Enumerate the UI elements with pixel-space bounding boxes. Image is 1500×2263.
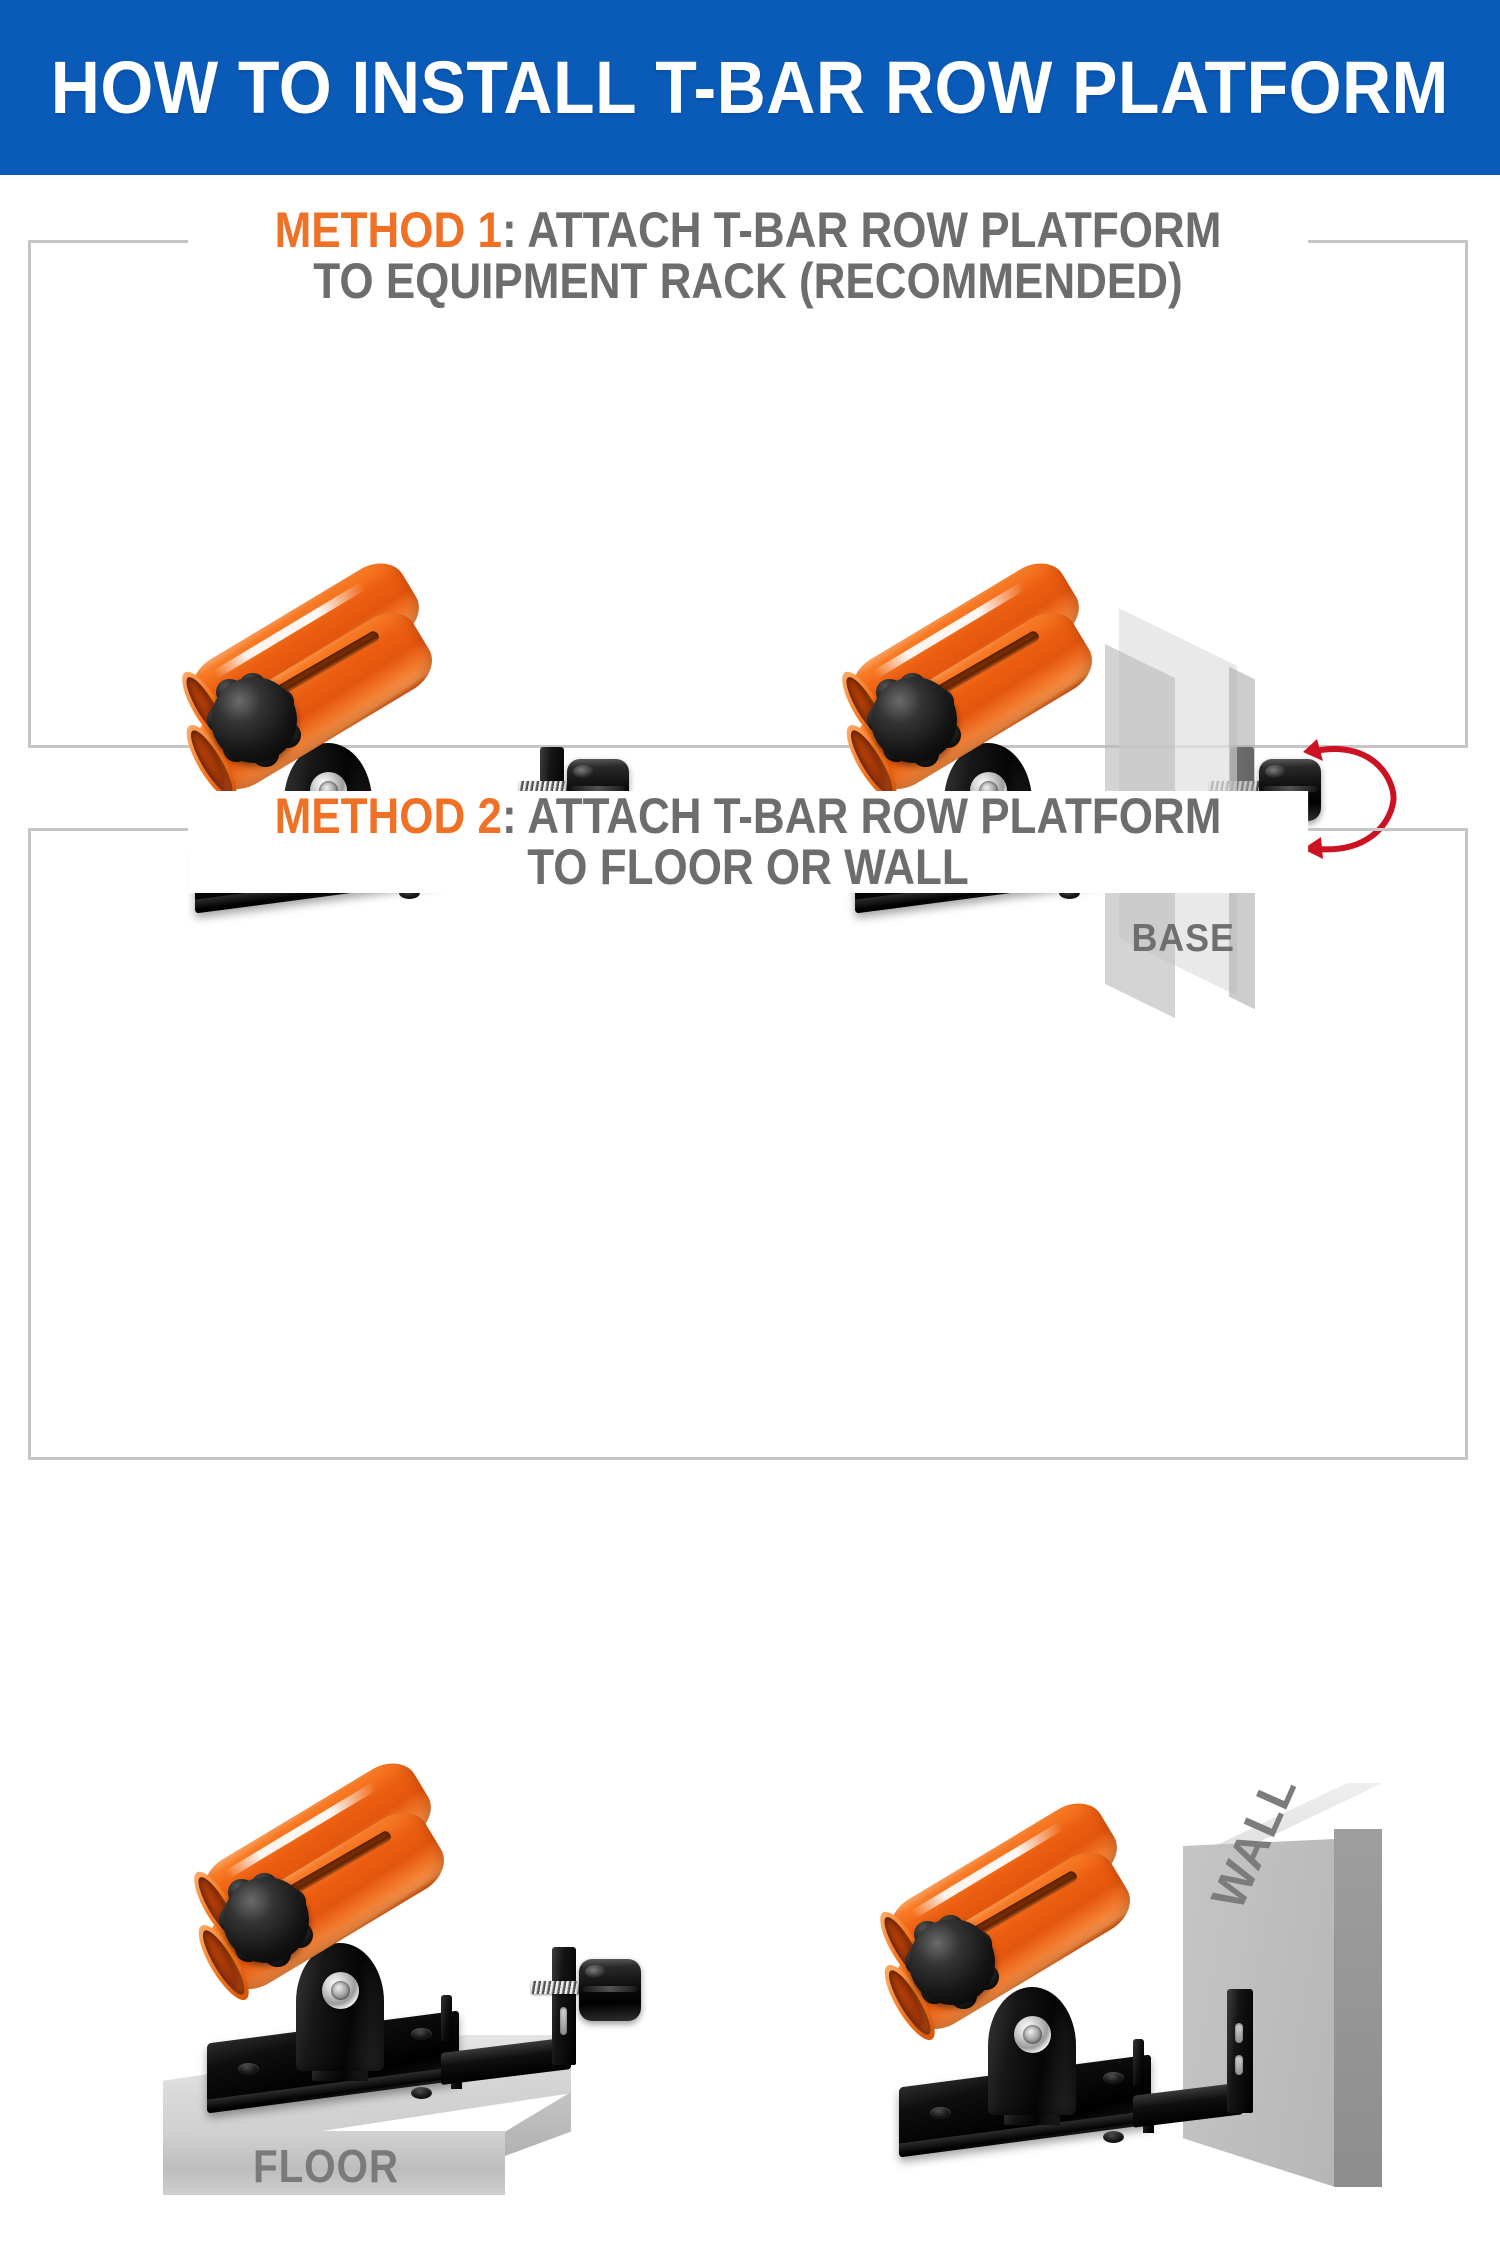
base-plate-hole-front-right [411, 2087, 432, 2099]
l-bracket-vertical-wall-plate [1227, 1989, 1253, 2113]
knob-body [871, 677, 957, 763]
wall-slab: WALL [1183, 1783, 1411, 2213]
t-bar-row-platform-unit-wall: WALL [831, 1783, 1411, 2263]
wall-plate-hole-lower [1235, 2055, 1243, 2075]
adjustment-knob[interactable] [211, 677, 297, 763]
method-1-heading-line-2: TO EQUIPMENT RACK (RECOMMENDED) [275, 256, 1222, 307]
base-plate-hole-rear-right [411, 2028, 432, 2040]
base-plate-hole-front-left [930, 2107, 951, 2119]
l-bracket-slot [560, 2007, 567, 2035]
base-plate-hole-front-left [238, 2063, 259, 2075]
header-banner: HOW TO INSTALL T-BAR ROW PLATFORM [0, 0, 1500, 175]
figure-method-2-floor: FLOOR [181, 1799, 681, 2229]
thumbscrew-knob[interactable] [579, 1959, 641, 2021]
method-1-heading: METHOD 1: ATTACH T-BAR ROW PLATFORM TO E… [188, 205, 1308, 307]
thumbscrew-shine [573, 765, 594, 779]
base-plate-hole-front-right [1103, 2131, 1124, 2143]
adjustment-knob[interactable] [223, 1877, 309, 1963]
knob-body [909, 1919, 995, 2005]
knob-body [223, 1877, 309, 1963]
method-1-heading-line-1: METHOD 1: ATTACH T-BAR ROW PLATFORM [275, 205, 1222, 256]
bracket-hook-rear [441, 1995, 452, 2041]
thumbscrew-shine [585, 1965, 606, 1979]
method-2-panel: METHOD 2: ATTACH T-BAR ROW PLATFORM TO F… [28, 828, 1468, 1460]
adjustment-knob[interactable] [909, 1919, 995, 2005]
knob-body [211, 677, 297, 763]
floor-label: FLOOR [253, 2139, 399, 2193]
adjustment-knob[interactable] [871, 677, 957, 763]
method-2-heading-line-2: TO FLOOR OR WALL [275, 842, 1222, 893]
wall-side-face [1334, 1829, 1382, 2187]
method-1-accent: METHOD 1 [275, 202, 502, 258]
method-1-heading-rest: : ATTACH T-BAR ROW PLATFORM [502, 202, 1221, 258]
wall-plate-hole-upper [1235, 2023, 1243, 2043]
method-2-heading-rest: : ATTACH T-BAR ROW PLATFORM [502, 788, 1221, 844]
method-1-panel: METHOD 1: ATTACH T-BAR ROW PLATFORM TO E… [28, 240, 1468, 748]
thumbscrew-groove [583, 1986, 638, 1992]
bracket-hook-rear [1133, 2039, 1144, 2085]
method-2-accent: METHOD 2 [275, 788, 502, 844]
t-bar-row-platform-unit-floor: FLOOR [181, 1799, 681, 2229]
base-plate-hole-rear-right [1103, 2072, 1124, 2084]
base-label: BASE [1131, 917, 1234, 961]
page-title: HOW TO INSTALL T-BAR ROW PLATFORM [51, 51, 1449, 125]
method-2-heading: METHOD 2: ATTACH T-BAR ROW PLATFORM TO F… [188, 791, 1308, 893]
figure-method-2-wall: WALL [831, 1783, 1411, 2263]
l-bracket-vertical [552, 1947, 576, 2065]
method-2-heading-line-1: METHOD 2: ATTACH T-BAR ROW PLATFORM [275, 791, 1222, 842]
